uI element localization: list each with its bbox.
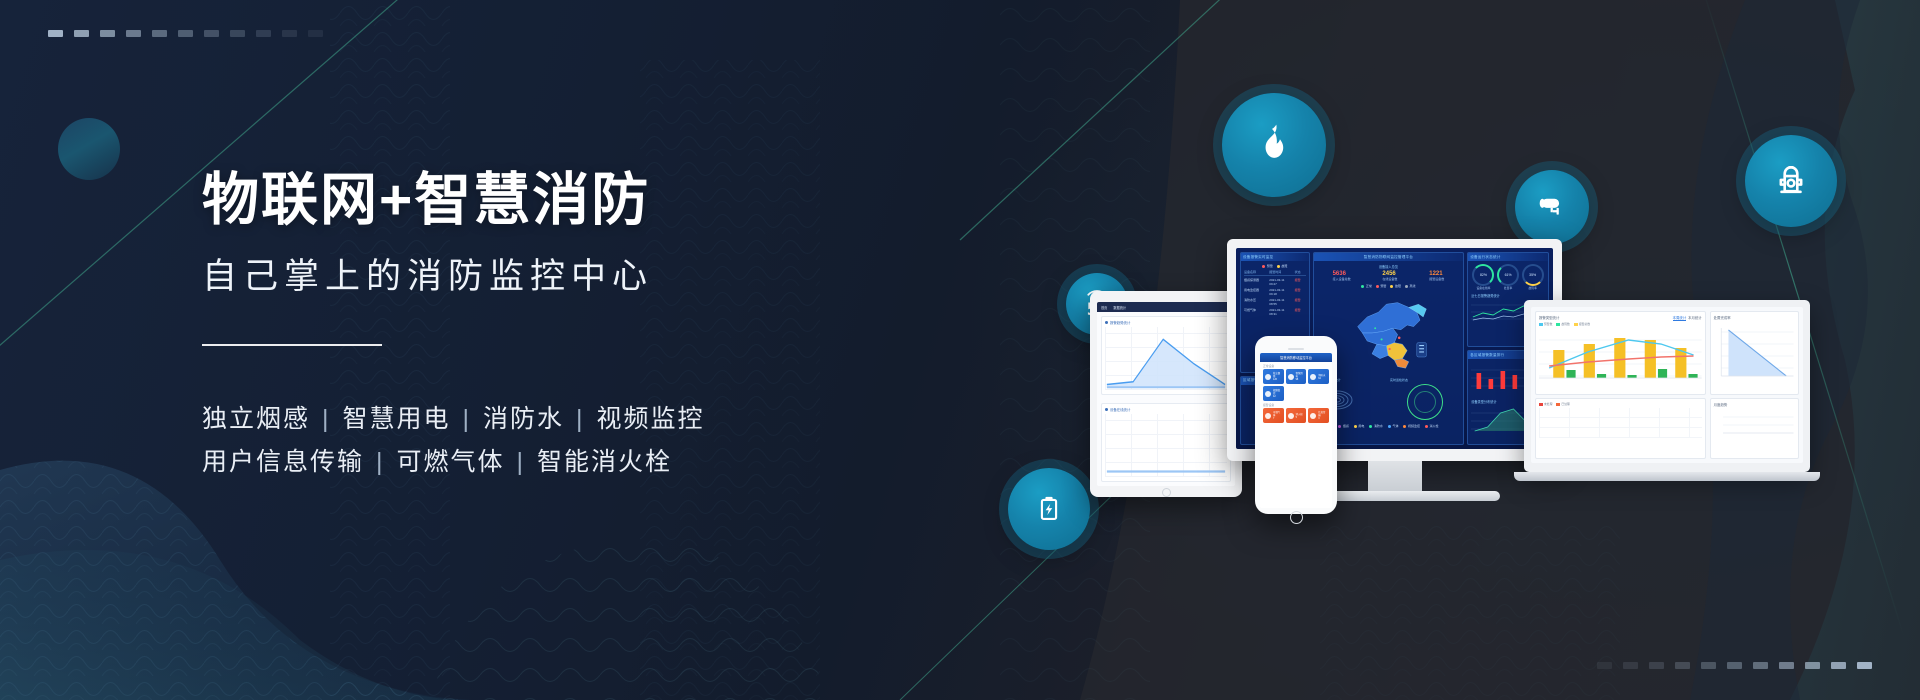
decorative-circle <box>58 118 120 180</box>
gauge-value: 82% <box>1480 273 1487 277</box>
phone-app-header: 智慧消防移动监控平台 <box>1260 353 1332 362</box>
cell: 可燃气体 <box>1244 308 1267 316</box>
laptop-bar-chart-card: 报警类型统计 本周统计 本月统计 预警数 故障数 报警总数 <box>1535 311 1706 395</box>
gauge: 61% <box>1497 264 1519 286</box>
card-title: 处置完成率 <box>1714 315 1731 320</box>
grid-placeholder <box>1539 408 1702 438</box>
feature-row-2: 用户信息传输 | 可燃气体 | 智能消火栓 <box>202 441 902 484</box>
map-legend: 正常 预警 故障 离线 <box>1317 284 1461 288</box>
cell: 2021-03-11 08:31 <box>1269 308 1292 316</box>
bar-line-combo-chart <box>1539 328 1702 386</box>
gauge-row: 82% 设备在线率 61% 处置率 35% 故障率 <box>1471 264 1545 290</box>
feature-item: 用户信息传输 <box>202 441 364 484</box>
tablet-chart-card: 设备在线统计 <box>1101 403 1231 482</box>
area-chart-svg <box>1105 327 1227 390</box>
tile-count: 98 <box>1296 378 1299 381</box>
china-map <box>1317 290 1461 376</box>
phone-tile[interactable]: 消防水 64 <box>1308 369 1329 384</box>
dashboard-title: 智慧消防物联网监控管理平台 <box>1314 253 1464 261</box>
card-header: 报警类型统计 本周统计 本月统计 <box>1539 315 1702 320</box>
device-mockup-cluster: 5G 首页 数据统计 报警 <box>1090 60 1890 640</box>
device-icon <box>1265 391 1271 397</box>
tile-text: 消火栓 5 <box>1296 413 1303 419</box>
phone-tile[interactable]: 视频监控 42 <box>1263 386 1284 401</box>
kpi-row: 5636 接入设备总数 2456 在线设备数 1221 报警设备数 <box>1317 271 1461 281</box>
legend-label: 消防水 <box>1374 424 1383 428</box>
legend-entry: 气体 <box>1388 424 1399 428</box>
feature-item: 智能消火栓 <box>537 441 672 484</box>
panel-title: 设备报警实时监控 <box>1241 253 1309 261</box>
tablet-area-chart-2 <box>1105 414 1227 477</box>
feature-item: 独立烟感 <box>202 398 310 441</box>
chart-title: 报警趋势统计 <box>1110 320 1130 325</box>
legend-entry: 预警 <box>1262 264 1273 268</box>
radar-panel: 实时巡检状态 <box>1390 378 1460 422</box>
china-map-svg <box>1340 293 1436 373</box>
device-icon <box>1310 374 1316 380</box>
alert-icon <box>1310 413 1316 419</box>
tile-count: 64 <box>1318 377 1321 380</box>
phone-section-label: 正常设备 <box>1260 362 1332 369</box>
laptop-area-chart-card: 处置完成率 <box>1710 311 1799 395</box>
phone-tile[interactable]: 独立烟感 126 <box>1263 369 1284 384</box>
cell-status: 报警 <box>1295 288 1306 296</box>
mini-trend-chart <box>1714 409 1795 437</box>
legend-label: 预警数 <box>1544 322 1552 326</box>
tile-text: 视频监控 42 <box>1273 389 1282 398</box>
bullet-icon <box>1105 321 1108 324</box>
legend-entry: 故障 <box>1277 264 1288 268</box>
panel-title: 设备运行状态统计 <box>1468 253 1548 261</box>
cell: 用电监控器 <box>1244 288 1267 296</box>
legend-label: 预警 <box>1267 264 1273 268</box>
corner-dashes-bottom-right <box>1597 662 1872 669</box>
monitor-stand-neck <box>1368 461 1422 491</box>
tile-count: 126 <box>1273 378 1277 381</box>
device-icon <box>1265 374 1271 380</box>
card-title: 报警类型统计 <box>1539 315 1559 320</box>
tab-week[interactable]: 本周统计 <box>1673 316 1687 321</box>
alert-icon <box>1288 413 1294 419</box>
legend-label: 离线 <box>1409 284 1415 288</box>
tablet-area-chart <box>1105 327 1227 390</box>
cell-status: 报警 <box>1295 298 1306 306</box>
tablet-chart-title: 报警趋势统计 <box>1105 320 1227 325</box>
feature-item: 可燃气体 <box>397 441 505 484</box>
tile-count: 7 <box>1273 417 1274 420</box>
feature-separator: | <box>564 398 597 441</box>
chart-title: 设备在线统计 <box>1110 407 1130 412</box>
laptop-trend-card: 月度趋势 <box>1710 398 1799 459</box>
card-header: 月度趋势 <box>1714 402 1795 407</box>
gauge: 82% <box>1472 264 1494 286</box>
cctv-camera-icon-badge <box>1515 170 1589 244</box>
hero-banner: 物联网+智慧消防 自己掌上的消防监控中心 独立烟感 | 智慧用电 | 消防水 |… <box>0 0 1920 700</box>
phone-speaker <box>1288 348 1304 350</box>
tab-month[interactable]: 本月统计 <box>1688 316 1702 320</box>
gauge-label: 故障率 <box>1522 286 1544 290</box>
laptop-chart-row-2: 未处理 已处理 月度趋势 <box>1535 398 1799 459</box>
card-header: 处置完成率 <box>1714 315 1795 320</box>
gauge-value: 35% <box>1529 273 1536 277</box>
flame-icon-badge <box>1222 93 1326 197</box>
table-row: 烟感探测器 2021-03-11 09:27 报警 <box>1244 278 1306 286</box>
tablet-nav-item[interactable]: 首页 <box>1101 305 1107 310</box>
legend-label: 用电 <box>1358 424 1364 428</box>
legend-label: 正常 <box>1366 284 1372 288</box>
legend-label: 未处理 <box>1544 402 1552 406</box>
kpi-label: 接入设备总数 <box>1333 277 1351 281</box>
legend-entry: 已处理 <box>1556 402 1569 406</box>
fire-hydrant-icon-badge <box>1745 135 1837 227</box>
battery-bolt-icon-badge <box>1008 468 1090 550</box>
corner-dashes-top-left <box>48 30 323 37</box>
legend-entry: 故障数 <box>1556 322 1569 326</box>
fire-hydrant-icon <box>1770 160 1812 202</box>
legend-label: 烟感 <box>1343 424 1349 428</box>
feature-separator: | <box>505 441 538 484</box>
legend-entry: 消火栓 <box>1425 424 1439 428</box>
tablet-nav[interactable]: 首页 数据统计 <box>1097 302 1235 312</box>
tile-count: 42 <box>1273 395 1276 398</box>
feature-separator: | <box>310 398 343 441</box>
table-header: 设备名称 报警时间 状态 <box>1244 270 1306 276</box>
card-title: 月度趋势 <box>1714 402 1728 407</box>
table-row: 可燃气体 2021-03-11 08:31 报警 <box>1244 308 1306 316</box>
phone-screen: 智慧消防移动监控平台 正常设备 独立烟感 126 智慧用电 <box>1260 353 1332 508</box>
cell: 2021-03-11 08:55 <box>1269 298 1292 306</box>
legend-entry: 预警数 <box>1539 322 1552 326</box>
tile-text: 信息传输 3 <box>1318 411 1327 420</box>
phone-section-label: 报警设备 <box>1260 401 1332 408</box>
feature-list: 独立烟感 | 智慧用电 | 消防水 | 视频监控 用户信息传输 | 可燃气体 |… <box>202 398 902 484</box>
gauge-value: 61% <box>1505 273 1512 277</box>
area-chart-svg <box>1105 414 1227 477</box>
tablet-chart-card: 报警趋势统计 <box>1101 316 1231 395</box>
cell: 烟感探测器 <box>1244 278 1267 286</box>
phone-app-title: 智慧消防移动监控平台 <box>1280 355 1312 360</box>
panel-title: 实时巡检状态 <box>1390 378 1460 382</box>
chart-legend: 预警数 故障数 报警总数 <box>1539 322 1702 326</box>
feature-item: 视频监控 <box>597 398 705 441</box>
panel-legend: 预警 故障 <box>1244 264 1306 268</box>
legend-entry: 未处理 <box>1539 402 1552 406</box>
laptop-base <box>1514 472 1820 481</box>
laptop-table-card: 未处理 已处理 <box>1535 398 1706 459</box>
legend-entry: 正常 <box>1361 284 1372 288</box>
dashboard-footer-legend: 烟感 用电 消防水 气体 视频监控 消火栓 <box>1317 424 1461 428</box>
legend-entry: 预警 <box>1376 284 1387 288</box>
tile-text: 智慧用电 98 <box>1296 372 1305 381</box>
page-subtitle: 自己掌上的消防监控中心 <box>202 256 902 298</box>
kpi-card: 5636 接入设备总数 <box>1333 271 1351 281</box>
feature-item: 智慧用电 <box>343 398 451 441</box>
column-header: 报警时间 <box>1269 270 1292 274</box>
laptop-lid: 报警类型统计 本周统计 本月统计 预警数 故障数 报警总数 <box>1524 300 1810 472</box>
divider <box>202 344 382 346</box>
legend-entry: 离线 <box>1405 284 1416 288</box>
legend-entry: 视频监控 <box>1403 424 1420 428</box>
phone-home-button[interactable] <box>1290 511 1303 524</box>
legend-entry: 报警总数 <box>1574 322 1590 326</box>
kpi-section-title: 设备接入总览 <box>1317 264 1461 269</box>
tablet-chart-title: 设备在线统计 <box>1105 407 1227 412</box>
phone-tile-grid-alarm: 可燃气体 7 消火栓 5 信息传输 <box>1260 408 1332 423</box>
gauge-label: 处置率 <box>1497 286 1519 290</box>
bullet-icon <box>1105 408 1108 411</box>
phone-tile[interactable]: 可燃气体 7 <box>1263 408 1284 423</box>
laptop-chart-row: 报警类型统计 本周统计 本月统计 预警数 故障数 报警总数 <box>1535 311 1799 395</box>
chart-title: 近七日报警趋势统计 <box>1471 293 1545 298</box>
feature-separator: | <box>364 441 397 484</box>
legend-label: 已处理 <box>1561 402 1569 406</box>
legend-label: 气体 <box>1392 424 1398 428</box>
tablet-screen: 首页 数据统计 报警趋势统计 <box>1097 302 1235 486</box>
feature-item: 消防水 <box>483 398 564 441</box>
device-icon <box>1288 374 1294 380</box>
legend-label: 视频监控 <box>1408 424 1420 428</box>
gauge: 35% <box>1522 264 1544 286</box>
phone-tile-grid-normal: 独立烟感 126 智慧用电 98 消防水 <box>1260 369 1332 401</box>
gauge-card: 82% 设备在线率 <box>1472 264 1494 290</box>
chart-legend: 未处理 已处理 <box>1539 402 1702 406</box>
cell: 2021-03-11 09:18 <box>1269 288 1292 296</box>
kpi-card: 1221 报警设备数 <box>1429 271 1444 281</box>
tile-count: 3 <box>1318 417 1319 420</box>
laptop-screen: 报警类型统计 本周统计 本月统计 预警数 故障数 报警总数 <box>1531 307 1803 463</box>
cell-status: 报警 <box>1295 308 1306 316</box>
tile-text: 独立烟感 126 <box>1273 372 1282 381</box>
phone-tile[interactable]: 消火栓 5 <box>1286 408 1307 423</box>
tablet-home-button[interactable] <box>1162 488 1171 497</box>
legend-label: 预警 <box>1380 284 1386 288</box>
tablet-nav-item[interactable]: 数据统计 <box>1113 305 1126 310</box>
gauge-label: 设备在线率 <box>1472 286 1494 290</box>
tablet-device: 首页 数据统计 报警趋势统计 <box>1090 291 1242 497</box>
tile-text: 可燃气体 7 <box>1273 411 1282 420</box>
feature-separator: | <box>451 398 484 441</box>
legend-label: 消火栓 <box>1429 424 1438 428</box>
descending-area-chart <box>1714 322 1795 386</box>
gauge-card: 35% 故障率 <box>1522 264 1544 290</box>
kpi-card: 2456 在线设备数 <box>1382 271 1397 281</box>
tile-text: 消防水 64 <box>1318 374 1325 380</box>
legend-label: 报警总数 <box>1579 322 1590 326</box>
alert-icon <box>1265 413 1271 419</box>
phone-tile[interactable]: 信息传输 3 <box>1308 408 1329 423</box>
kpi-label: 报警设备数 <box>1429 277 1444 281</box>
legend-entry: 用电 <box>1354 424 1365 428</box>
radar-chart <box>1407 384 1443 420</box>
battery-bolt-icon <box>1032 492 1066 526</box>
flame-icon <box>1251 122 1297 168</box>
hero-copy: 物联网+智慧消防 自己掌上的消防监控中心 独立烟感 | 智慧用电 | 消防水 |… <box>202 168 902 484</box>
smartphone-device: 智慧消防移动监控平台 正常设备 独立烟感 126 智慧用电 <box>1255 336 1337 514</box>
table-row: 用电监控器 2021-03-11 09:18 报警 <box>1244 288 1306 296</box>
legend-label: 故障 <box>1281 264 1287 268</box>
page-title: 物联网+智慧消防 <box>202 168 902 234</box>
legend-label: 故障 <box>1395 284 1401 288</box>
alarm-table: 设备名称 报警时间 状态 烟感探测器 2021-03-11 09:27 报警 <box>1244 270 1306 316</box>
cctv-camera-icon <box>1535 190 1569 224</box>
cell-status: 报警 <box>1295 278 1306 286</box>
laptop-device: 报警类型统计 本周统计 本月统计 预警数 故障数 报警总数 <box>1524 300 1830 500</box>
tile-count: 5 <box>1296 416 1297 419</box>
legend-entry: 故障 <box>1390 284 1401 288</box>
legend-entry: 烟感 <box>1338 424 1349 428</box>
column-header: 设备名称 <box>1244 270 1267 274</box>
legend-entry: 消防水 <box>1369 424 1383 428</box>
legend-label: 故障数 <box>1561 322 1569 326</box>
column-header: 状态 <box>1295 270 1306 274</box>
cell: 消防水压 <box>1244 298 1267 306</box>
phone-tile[interactable]: 智慧用电 98 <box>1286 369 1307 384</box>
feature-row-1: 独立烟感 | 智慧用电 | 消防水 | 视频监控 <box>202 398 902 441</box>
cell: 2021-03-11 09:27 <box>1269 278 1292 286</box>
gauge-card: 61% 处置率 <box>1497 264 1519 290</box>
kpi-label: 在线设备数 <box>1382 277 1397 281</box>
table-row: 消防水压 2021-03-11 08:55 报警 <box>1244 298 1306 306</box>
